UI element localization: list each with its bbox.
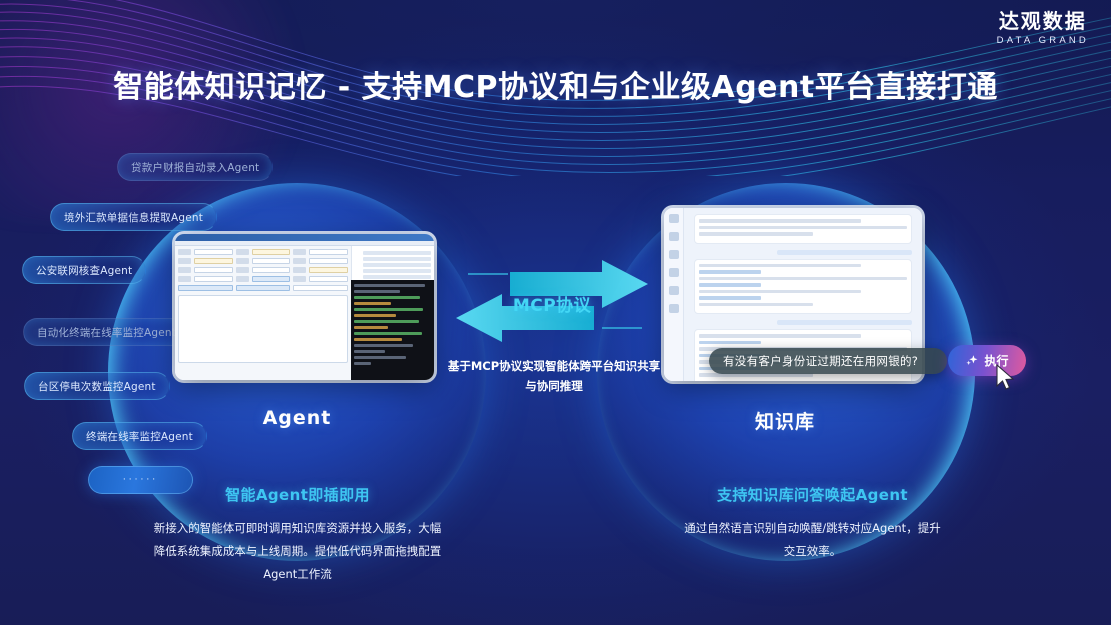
mouse-cursor-icon <box>996 364 1018 394</box>
agent-tag-overseas-remittance[interactable]: 境外汇款单据信息提取Agent <box>50 203 217 231</box>
feature-kb-line1: 通过自然语言识别自动唤醒/跳转对应Agent，提升 <box>684 521 940 535</box>
mcp-caption: 基于MCP协议实现智能体跨平台知识共享 与协同推理 <box>440 356 668 396</box>
app-titlebar <box>175 234 434 241</box>
agent-tag-terminal-auto-monitor[interactable]: 自动化终端在线率监控Agent <box>23 318 190 346</box>
settings-icon <box>669 286 679 295</box>
sparkle-icon <box>965 354 979 368</box>
chat-message-card <box>694 214 912 244</box>
mcp-caption-line1: 基于MCP协议实现智能体跨平台知识共享 <box>448 359 660 373</box>
agent-tag-terminal-online-rate[interactable]: 终端在线率监控Agent <box>72 422 207 450</box>
agent-tag-outage-count-monitor[interactable]: 台区停电次数监控Agent <box>24 372 170 400</box>
history-icon <box>669 304 679 313</box>
agent-tag-loan-report[interactable]: 贷款户财报自动录入Agent <box>117 153 273 181</box>
database-icon <box>669 250 679 259</box>
brand-name-en: DATA GRAND <box>997 35 1089 46</box>
chat-user-query <box>777 250 912 255</box>
knowledge-base-orb-label: 知识库 <box>655 407 915 434</box>
feature-agent-line1: 新接入的智能体可即时调用知识库资源并投入服务，大幅 <box>154 521 442 535</box>
agent-tag-police-verification[interactable]: 公安联网核查Agent <box>22 256 146 284</box>
document-icon <box>669 214 679 223</box>
feature-heading-agent: 智能Agent即插即用 <box>110 484 485 505</box>
agent-orb-label: Agent <box>167 407 427 429</box>
library-icon <box>669 232 679 241</box>
page-title: 智能体知识记忆 - 支持MCP协议和与企业级Agent平台直接打通 <box>0 62 1111 106</box>
chat-message-card <box>694 259 912 315</box>
feature-kb-line2: 交互效率。 <box>784 544 842 558</box>
slide-canvas: 达观数据 DATA GRAND 智能体知识记忆 - 支持MCP协议和与企业级Ag… <box>0 0 1111 625</box>
feature-block-agent: 智能Agent即插即用 新接入的智能体可即时调用知识库资源并投入服务，大幅 降低… <box>110 484 485 586</box>
feature-block-kb: 支持知识库问答唤起Agent 通过自然语言识别自动唤醒/跳转对应Agent，提升… <box>625 484 1000 563</box>
agent-app-screenshot[interactable] <box>175 234 434 380</box>
brand-name-cn: 达观数据 <box>997 9 1089 33</box>
app-log-terminal <box>351 280 434 380</box>
chat-user-query <box>777 320 912 325</box>
feature-agent-line3: Agent工作流 <box>263 567 332 581</box>
analytics-icon <box>669 268 679 277</box>
query-input[interactable]: 有没有客户身份证过期还在用网银的? <box>709 348 947 374</box>
app-result-panel <box>178 295 348 363</box>
brand-logo: 达观数据 DATA GRAND <box>997 9 1089 46</box>
feature-heading-kb: 支持知识库问答唤起Agent <box>625 484 1000 505</box>
app-form-area <box>175 246 351 380</box>
feature-body-agent: 新接入的智能体可即时调用知识库资源并投入服务，大幅 降低系统集成成本与上线周期。… <box>110 517 485 586</box>
feature-body-kb: 通过自然语言识别自动唤醒/跳转对应Agent，提升 交互效率。 <box>625 517 1000 563</box>
feature-agent-line2: 降低系统集成成本与上线周期。提供低代码界面拖拽配置 <box>154 544 442 558</box>
mcp-caption-line2: 与协同推理 <box>525 379 583 393</box>
mcp-protocol-label: MCP协议 <box>452 291 652 316</box>
